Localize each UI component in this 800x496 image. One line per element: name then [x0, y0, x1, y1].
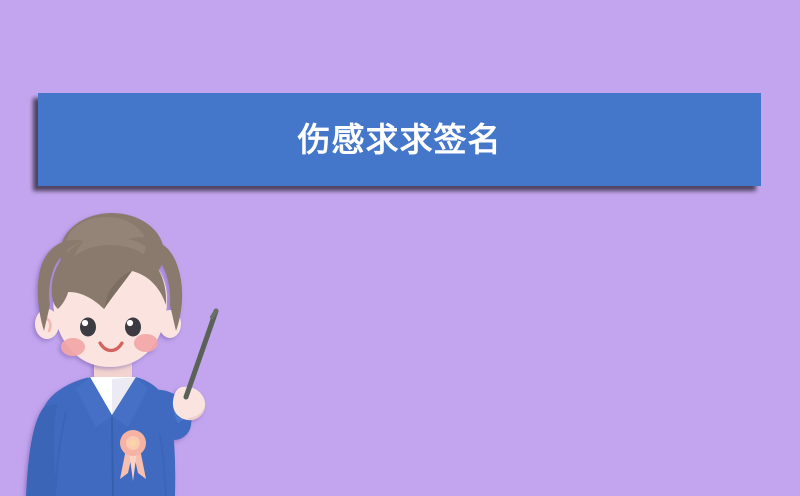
eye-left-highlight [82, 320, 88, 326]
slide-canvas: 伤感求求签名 [0, 0, 800, 496]
eye-right [125, 318, 141, 337]
eye-left [80, 318, 96, 337]
teacher-illustration [0, 205, 270, 496]
ribbon-rosette-center [130, 440, 137, 447]
blush-left [61, 338, 85, 356]
pointer-stick [186, 311, 216, 397]
body-group [26, 355, 205, 496]
jacket-center-seam [112, 417, 113, 496]
title-banner: 伤感求求签名 [38, 93, 761, 186]
jacket-sleeve-left [26, 403, 58, 496]
eye-right-highlight [127, 320, 133, 326]
head-group [35, 213, 182, 367]
blush-right [134, 334, 158, 352]
page-title: 伤感求求签名 [298, 123, 502, 156]
